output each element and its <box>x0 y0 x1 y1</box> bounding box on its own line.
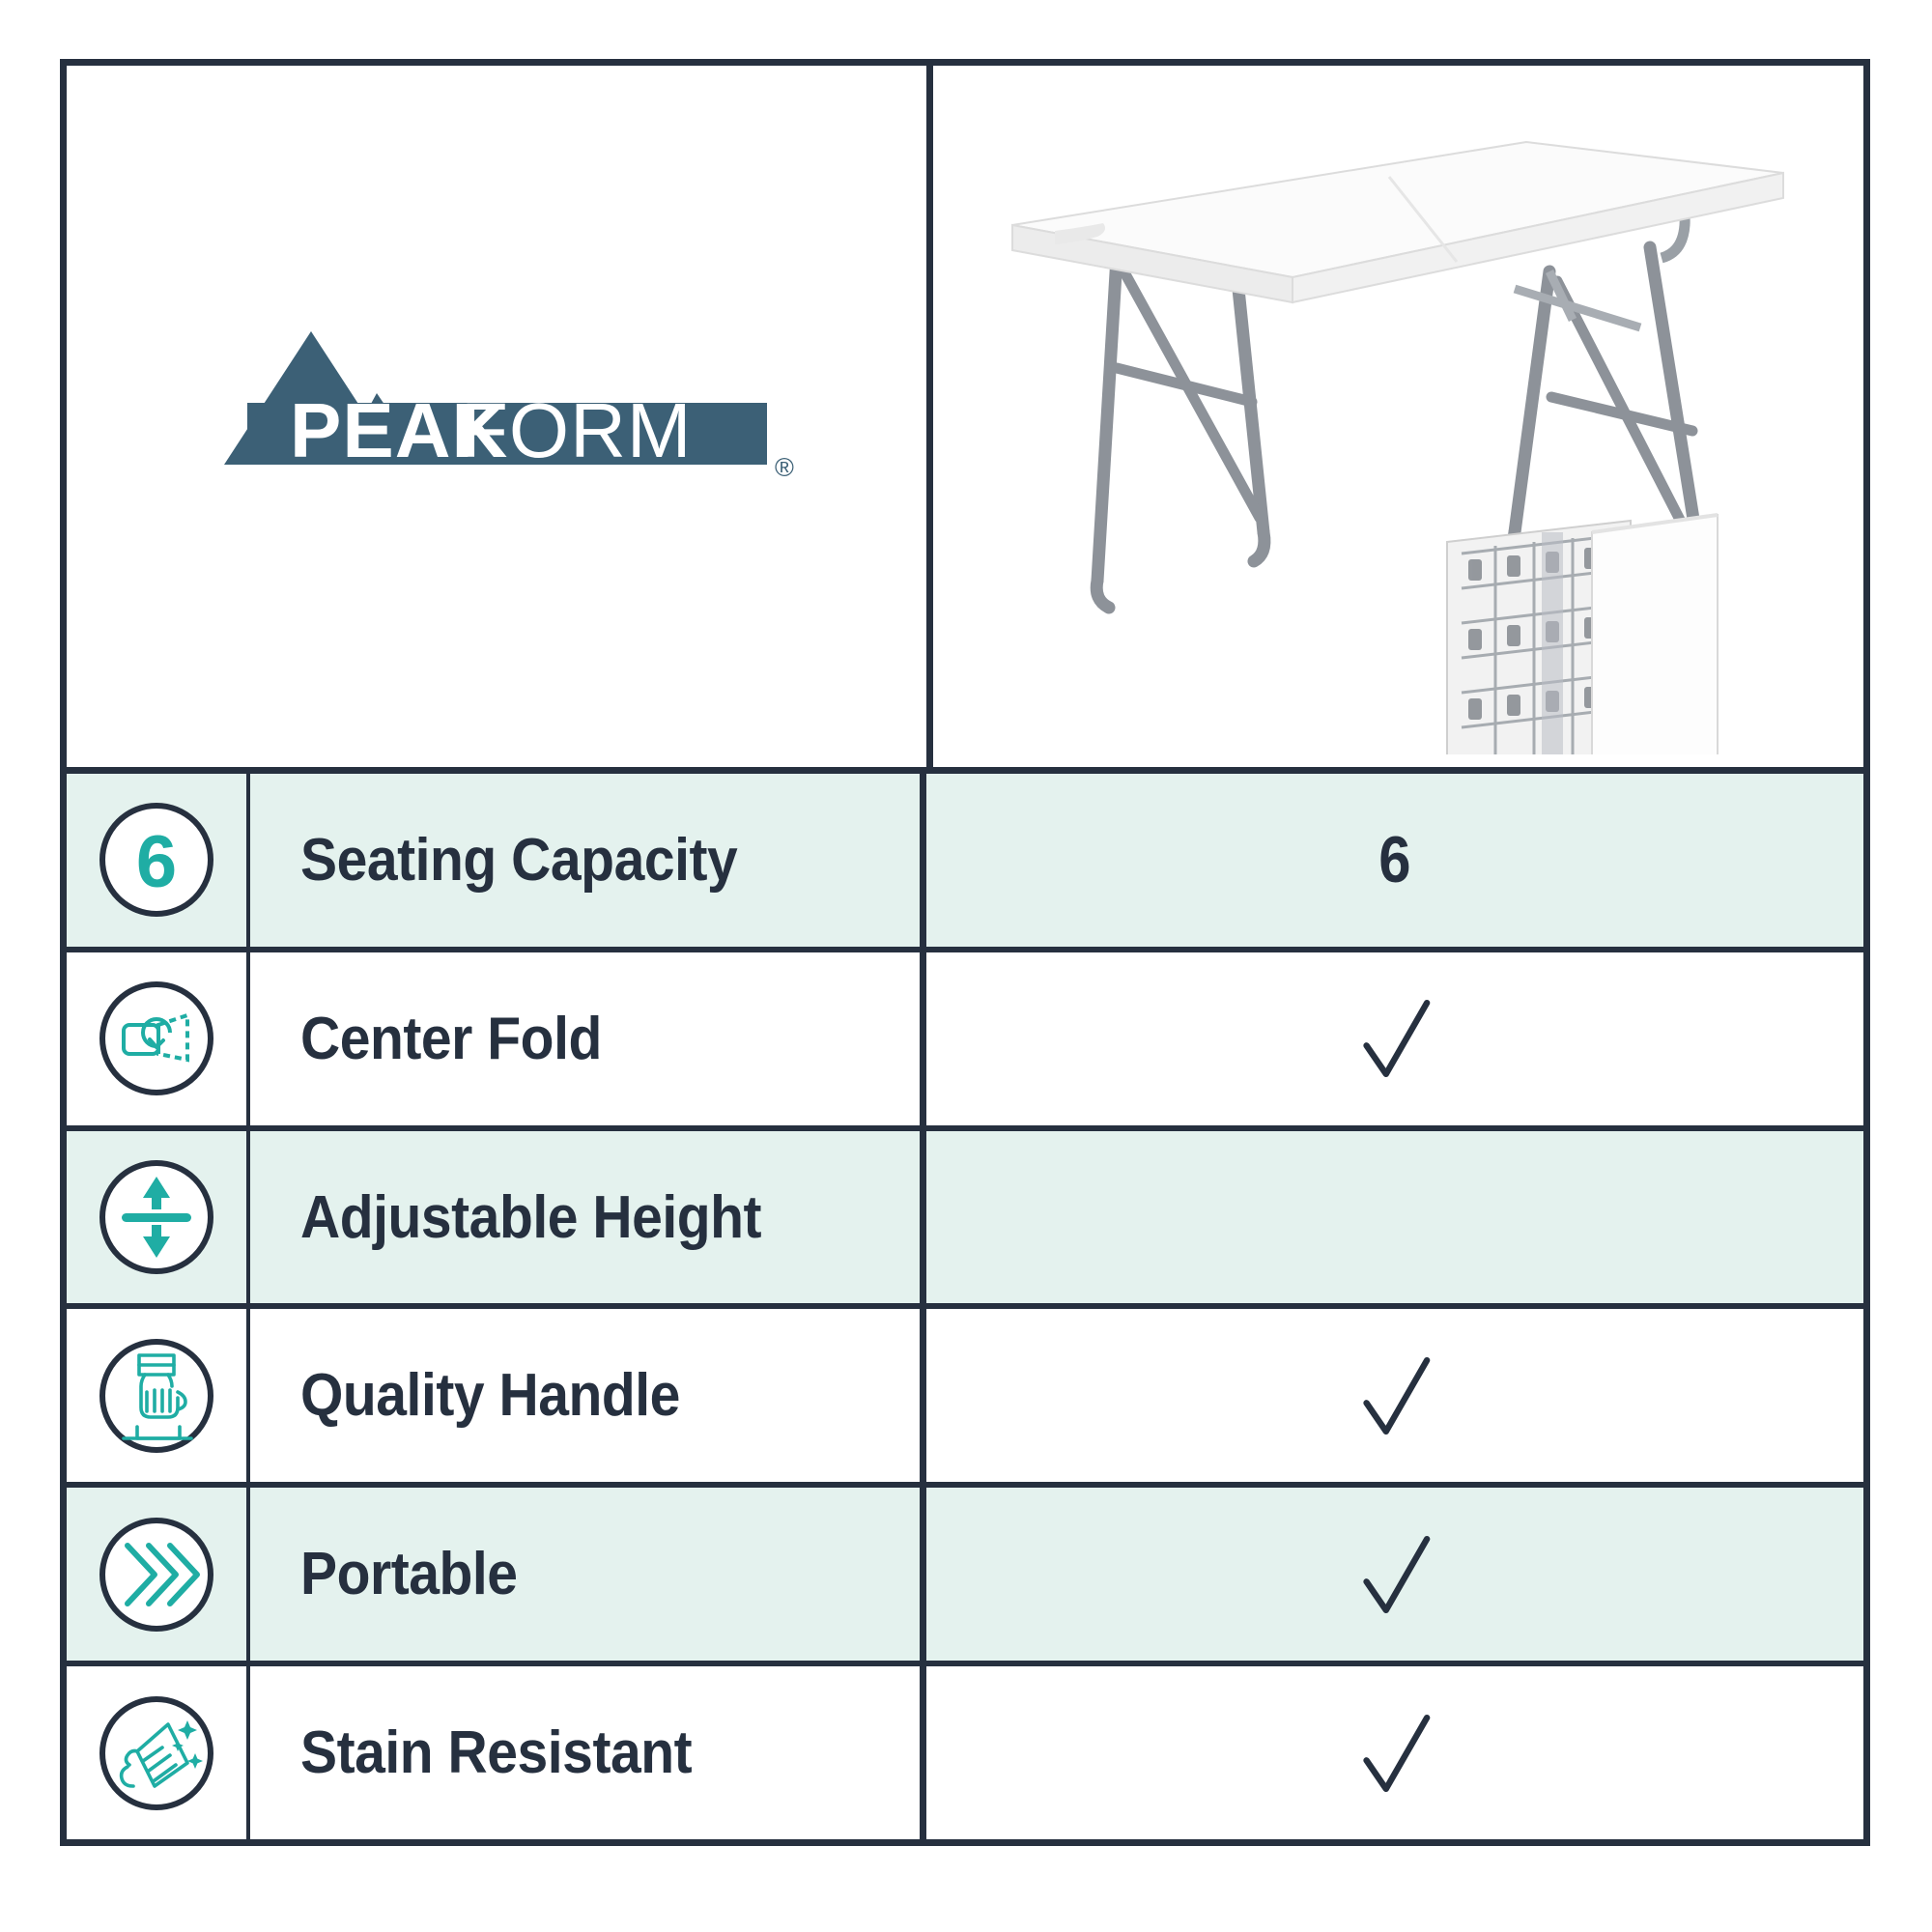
label-cell-stain-resistant: Stain Resistant <box>250 1666 926 1839</box>
icon-cell-stain-resistant <box>67 1666 250 1839</box>
adjustable-height-icon <box>95 1155 218 1279</box>
center-fold-icon <box>95 977 218 1100</box>
product-image-cell <box>933 66 1863 767</box>
spec-table: PEAK FORM ® <box>60 59 1870 1846</box>
spec-row-seating-capacity: 6 Seating Capacity 6 <box>67 774 1863 952</box>
seating-capacity-icon: 6 <box>95 798 218 922</box>
seating-capacity-icon-number: 6 <box>136 821 177 903</box>
spec-row-adjustable-height: Adjustable Height <box>67 1131 1863 1310</box>
value-cell-center-fold <box>926 952 1863 1125</box>
label-cell-seating-capacity: Seating Capacity <box>250 774 926 947</box>
header-band: PEAK FORM ® <box>67 66 1863 774</box>
spec-label: Adjustable Height <box>300 1183 761 1252</box>
quality-handle-icon <box>95 1334 218 1458</box>
label-cell-portable: Portable <box>250 1488 926 1661</box>
value-cell-seating-capacity: 6 <box>926 774 1863 947</box>
logo-word-form: FORM <box>461 387 693 473</box>
checkmark-icon <box>1350 1530 1439 1619</box>
label-cell-center-fold: Center Fold <box>250 952 926 1125</box>
brand-cell: PEAK FORM ® <box>67 66 933 767</box>
checkmark-icon <box>1350 1351 1439 1440</box>
registered-trademark-symbol: ® <box>775 455 794 481</box>
icon-cell-center-fold <box>67 952 250 1125</box>
stain-resistant-icon <box>95 1691 218 1815</box>
value-cell-stain-resistant <box>926 1666 1863 1839</box>
spec-label: Seating Capacity <box>300 826 737 895</box>
spec-label: Center Fold <box>300 1005 602 1073</box>
portable-icon <box>95 1513 218 1636</box>
spec-label: Stain Resistant <box>300 1719 692 1787</box>
folded-table-inset <box>1447 515 1718 754</box>
checkmark-icon <box>1350 994 1439 1083</box>
label-cell-adjustable-height: Adjustable Height <box>250 1131 926 1304</box>
folding-table-product-image <box>974 78 1824 754</box>
icon-cell-adjustable-height <box>67 1131 250 1304</box>
value-cell-portable <box>926 1488 1863 1661</box>
spec-row-quality-handle: Quality Handle <box>67 1309 1863 1488</box>
icon-cell-portable <box>67 1488 250 1661</box>
peakform-logo-svg: PEAK FORM <box>187 310 767 508</box>
spec-value-number: 6 <box>1378 822 1410 897</box>
product-spec-infographic: PEAK FORM ® <box>0 0 1932 1932</box>
spec-label: Quality Handle <box>300 1361 680 1430</box>
spec-row-center-fold: Center Fold <box>67 952 1863 1131</box>
icon-cell-seating-capacity: 6 <box>67 774 250 947</box>
icon-cell-quality-handle <box>67 1309 250 1482</box>
label-cell-quality-handle: Quality Handle <box>250 1309 926 1482</box>
spec-row-portable: Portable <box>67 1488 1863 1666</box>
value-cell-adjustable-height <box>926 1131 1863 1304</box>
spec-rows: 6 Seating Capacity 6 <box>67 774 1863 1839</box>
value-cell-quality-handle <box>926 1309 1863 1482</box>
brand-logo: PEAK FORM ® <box>187 310 806 523</box>
spec-label: Portable <box>300 1540 518 1608</box>
checkmark-icon <box>1350 1709 1439 1798</box>
spec-row-stain-resistant: Stain Resistant <box>67 1666 1863 1839</box>
